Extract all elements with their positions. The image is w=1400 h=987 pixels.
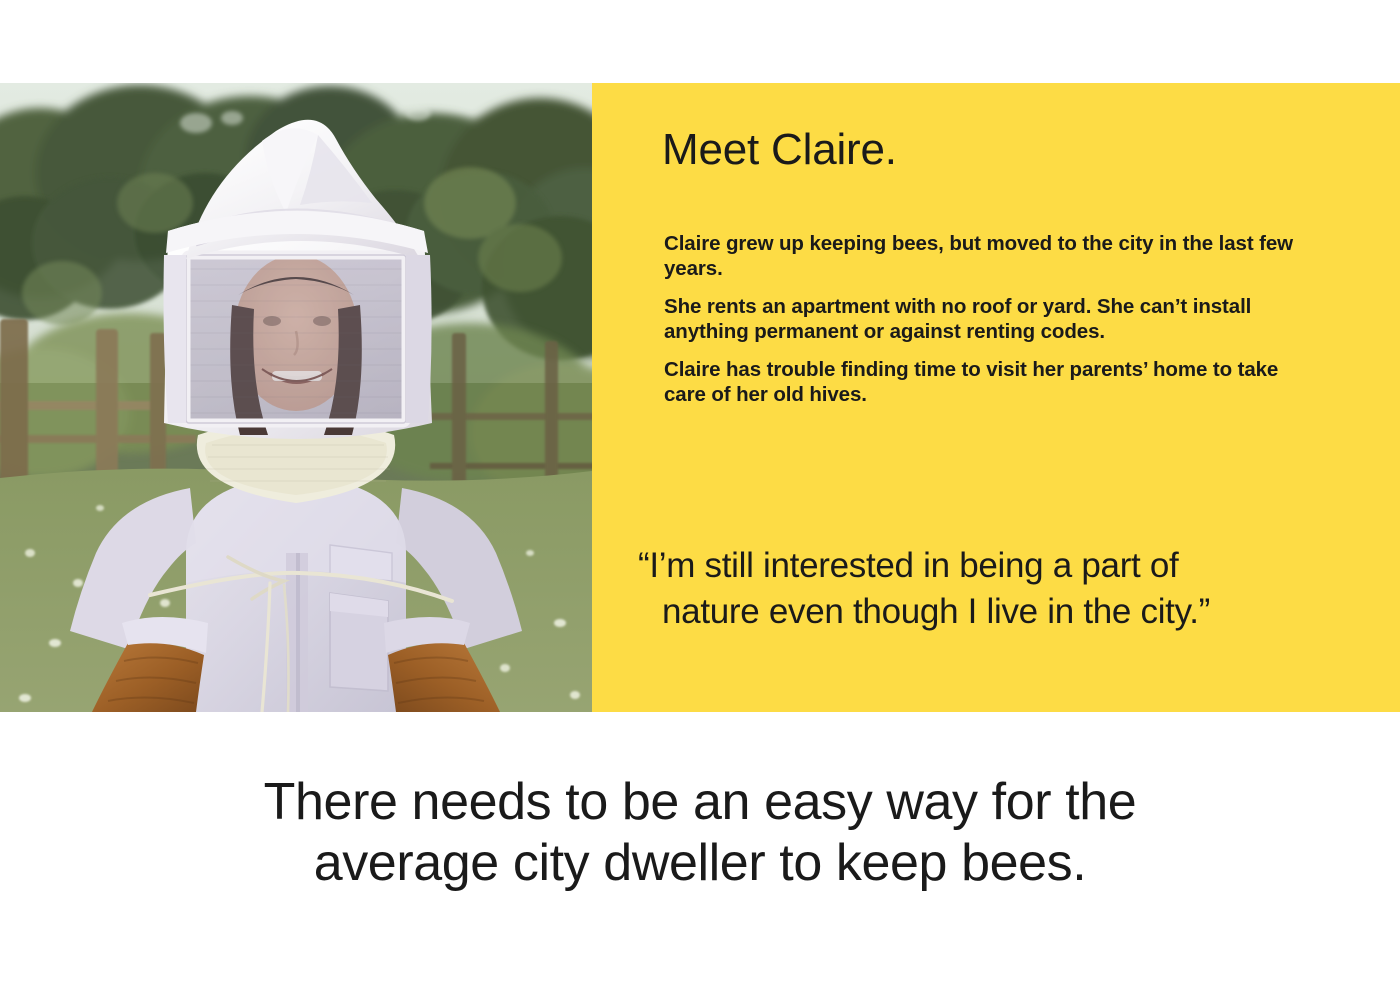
insight-statement: There needs to be an easy way for the av… [0, 772, 1400, 894]
quote-line-2: nature even though I live in the city.” [638, 589, 1338, 635]
insight-statement-line-2: average city dweller to keep bees. [0, 833, 1400, 894]
panel-content: Meet Claire. Claire grew up keeping bees… [662, 83, 1362, 712]
claire-photo [0, 83, 592, 712]
beekeeper-photo-illustration [0, 83, 592, 712]
persona-quote-text: “I’m still interested in being a part of… [638, 543, 1338, 635]
persona-bio-list: Claire grew up keeping bees, but moved t… [664, 231, 1312, 407]
persona-slide: Meet Claire. Claire grew up keeping bees… [0, 0, 1400, 987]
persona-quote: “I’m still interested in being a part of… [638, 543, 1338, 635]
top-band: Meet Claire. Claire grew up keeping bees… [0, 83, 1400, 712]
insight-statement-line-1: There needs to be an easy way for the [0, 772, 1400, 833]
persona-bio-paragraph: She rents an apartment with no roof or y… [664, 294, 1312, 344]
quote-line-1: “I’m still interested in being a part of [638, 546, 1178, 585]
persona-bio-paragraph: Claire grew up keeping bees, but moved t… [664, 231, 1312, 281]
persona-bio-paragraph: Claire has trouble finding time to visit… [664, 357, 1312, 407]
persona-info-panel: Meet Claire. Claire grew up keeping bees… [592, 83, 1400, 712]
persona-title: Meet Claire. [662, 126, 897, 174]
